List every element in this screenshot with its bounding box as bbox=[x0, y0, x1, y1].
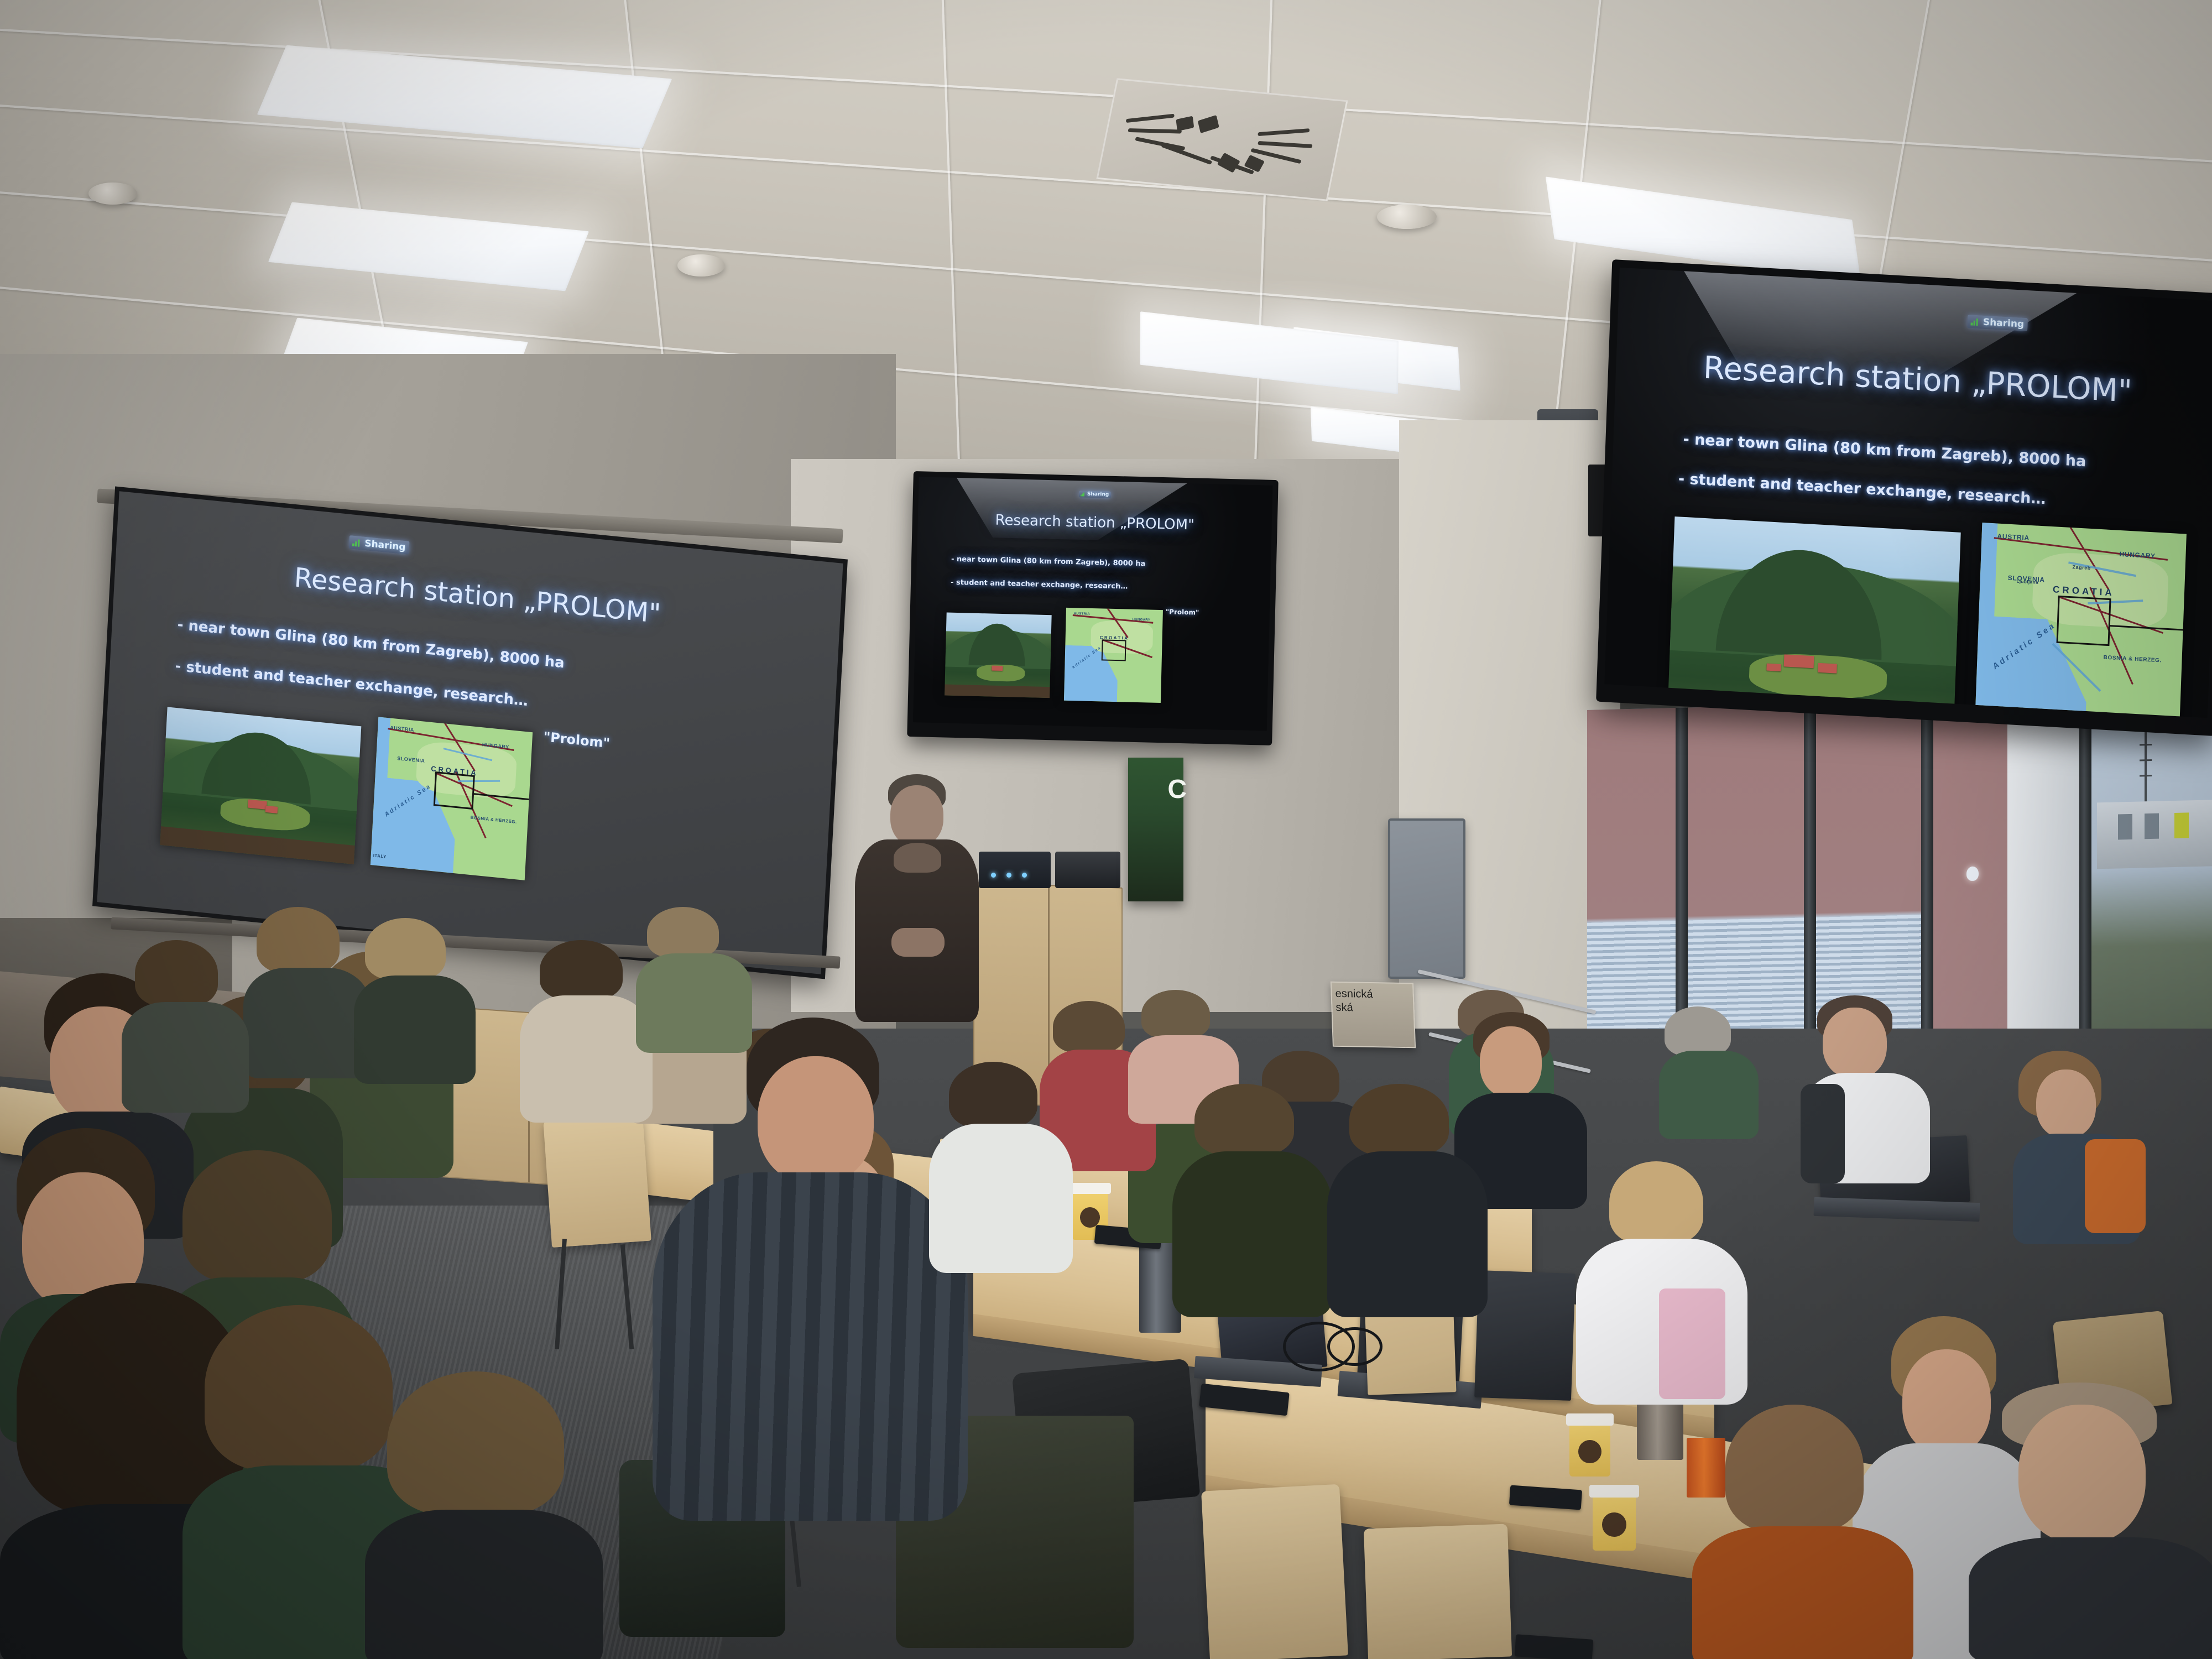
audience-member-foreground bbox=[365, 1371, 597, 1659]
ceiling-light-panel bbox=[1140, 311, 1399, 394]
map-highlight-box bbox=[434, 771, 475, 810]
audience-member bbox=[1969, 1383, 2212, 1659]
slide-center: Sharing Research station „PROLOM" - near… bbox=[913, 477, 1273, 731]
smoke-detector-icon bbox=[88, 182, 137, 205]
audience-member bbox=[1659, 1006, 1759, 1134]
audience-member bbox=[929, 1062, 1067, 1272]
cable-bundle-box bbox=[1055, 852, 1120, 888]
slide-left: Sharing Research station „PROLOM" - near… bbox=[97, 491, 843, 974]
slide-map-croatia: AUSTRIA HUNGARY CROATIA Adriatic Sea bbox=[1064, 608, 1163, 703]
presenter-collar bbox=[894, 843, 941, 873]
map-callout-prolom: "Prolom" bbox=[1166, 608, 1199, 616]
map-callout-prolom: "Prolom" bbox=[543, 729, 611, 751]
slide-photo-station bbox=[945, 613, 1052, 698]
rollup-banner: C bbox=[1128, 758, 1183, 901]
slide-bullet-2: - student and teacher exchange, research… bbox=[1678, 470, 2046, 508]
audience-member bbox=[520, 940, 647, 1117]
cable-bundle bbox=[1327, 1327, 1383, 1366]
slide-bullet-1: - near town Glina (80 km from Zagreb), 8… bbox=[1683, 431, 2086, 471]
ceiling-light-panel bbox=[268, 202, 589, 291]
presenter-hands bbox=[891, 928, 945, 957]
sharing-badge-label: Sharing bbox=[364, 538, 406, 553]
slide-bullet-1: - near town Glina (80 km from Zagreb), 8… bbox=[951, 555, 1146, 568]
audience-member bbox=[2013, 1051, 2135, 1233]
audience-member bbox=[1327, 1084, 1482, 1316]
audience-member bbox=[1576, 1161, 1742, 1394]
chair[interactable] bbox=[1201, 1484, 1348, 1659]
audience-member bbox=[354, 918, 470, 1078]
map-highlight-box bbox=[2057, 596, 2111, 646]
classroom-photo-scene: Sharing Research station „PROLOM" - near… bbox=[0, 0, 2212, 1659]
signal-bars-icon bbox=[1971, 318, 1980, 326]
slide-title: Research station „PROLOM" bbox=[918, 510, 1272, 535]
chair[interactable] bbox=[1364, 1524, 1512, 1659]
slide-bullet-2: - student and teacher exchange, research… bbox=[951, 578, 1128, 591]
presenter bbox=[841, 774, 995, 1023]
chair[interactable] bbox=[543, 1114, 651, 1248]
smoke-detector-icon bbox=[1377, 205, 1437, 229]
slide-photo-station bbox=[160, 707, 361, 864]
signal-bars-icon bbox=[352, 539, 362, 547]
ceiling-light-panel bbox=[257, 45, 672, 149]
slide-map-croatia: AUSTRIA HUNGARY SLOVENIA CROATIA BOSNIA … bbox=[371, 717, 533, 880]
department-sign-line-1: esnická bbox=[1335, 987, 1410, 1002]
department-sign: esnická ská bbox=[1331, 982, 1416, 1048]
audience-member bbox=[243, 907, 365, 1073]
sharing-badge: Sharing bbox=[1967, 315, 2028, 331]
audience-member bbox=[1681, 1405, 1913, 1659]
wall-display-right[interactable]: Sharing Research station „PROLOM" - near… bbox=[1596, 259, 2212, 736]
audience-member bbox=[1803, 995, 1924, 1178]
slide-bullet-2: - student and teacher exchange, research… bbox=[175, 658, 529, 710]
signal-bars-icon bbox=[1081, 492, 1086, 496]
slide-right: Sharing Research station „PROLOM" - near… bbox=[1604, 268, 2212, 718]
sharing-badge: Sharing bbox=[349, 535, 410, 555]
audience-member-foreground bbox=[653, 1018, 962, 1515]
sharing-badge-label: Sharing bbox=[1983, 317, 2025, 330]
exterior-lamp-icon bbox=[1966, 867, 1979, 881]
coffee-cup[interactable] bbox=[1569, 1421, 1610, 1477]
sharing-badge: Sharing bbox=[1079, 491, 1111, 498]
wall-display-center[interactable]: Sharing Research station „PROLOM" - near… bbox=[907, 471, 1279, 745]
air-diffuser-icon bbox=[1096, 78, 1348, 201]
audience-member bbox=[1172, 1084, 1327, 1316]
slide-photo-station bbox=[1667, 517, 1961, 718]
slide-title: Research station „PROLOM" bbox=[1615, 345, 2212, 415]
presenter-head bbox=[890, 785, 943, 846]
slide-map-croatia: AUSTRIA HUNGARY SLOVENIA CROATIA BOSNIA … bbox=[1974, 523, 2187, 718]
banner-logo: C bbox=[1167, 774, 1187, 805]
projection-screen-left[interactable]: Sharing Research station „PROLOM" - near… bbox=[92, 486, 848, 979]
smoke-detector-icon bbox=[677, 254, 725, 276]
laptop[interactable] bbox=[1474, 1270, 1575, 1401]
sharing-badge-label: Sharing bbox=[1087, 492, 1109, 498]
audience-member bbox=[122, 940, 243, 1106]
whiteboard[interactable] bbox=[1388, 818, 1465, 979]
department-sign-line-2: ská bbox=[1335, 1001, 1410, 1016]
coffee-cup[interactable] bbox=[1593, 1493, 1636, 1551]
